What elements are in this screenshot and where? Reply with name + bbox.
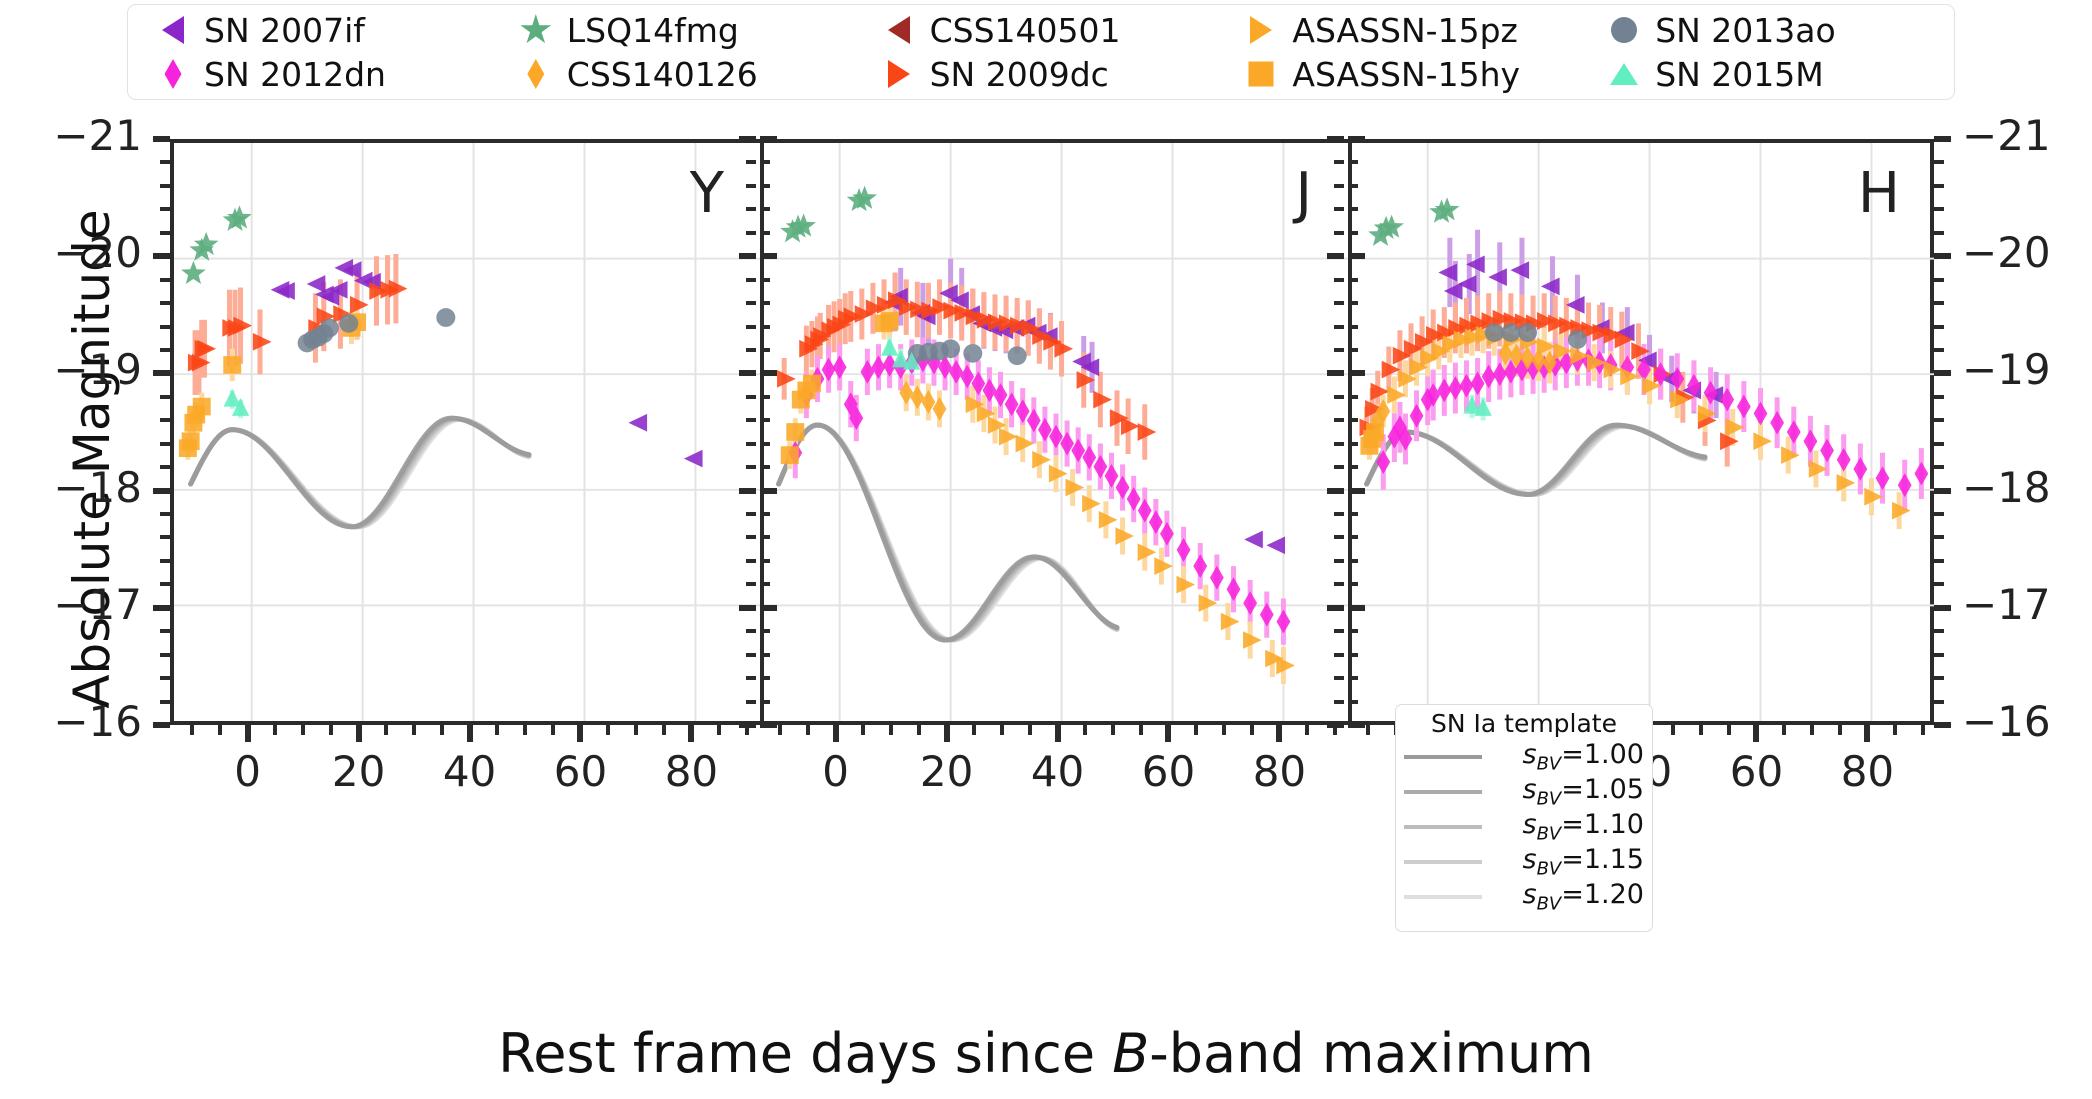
data-point-sn-2012dn [1071,439,1085,463]
divider-minor-tick-right [760,512,770,516]
marker-glyph [1249,62,1274,87]
panel-label-H: H [1858,161,1900,226]
data-point-sn-2013ao [339,314,358,333]
divider-minor-tick-left [746,184,756,188]
template-legend-label: sBV=1.05 [1490,774,1644,809]
divider-minor-tick-right [1348,231,1358,235]
x-tick-label-p0-1: 20 [332,747,385,796]
divider-minor-tick-right [1348,512,1358,516]
divider-minor-tick-right [1348,465,1358,469]
data-point-sn-2013ao [941,339,960,358]
x-major-tick [1864,725,1870,742]
x-minor-tick [1366,725,1370,735]
marker-glyph [1611,17,1637,43]
divider-minor-tick-left [746,207,756,211]
template-legend-rows: sBV=1.00sBV=1.05sBV=1.10sBV=1.15sBV=1.20 [1404,739,1644,914]
template-line-swatch [1404,825,1482,829]
divider-minor-tick-right [1348,301,1358,305]
y-major-tick [153,722,170,728]
legend-item-asassn-15hy[interactable]: ASASSN-15hy [1222,52,1585,96]
marker-glyph [527,59,544,89]
divider-major-tick-left [1327,370,1344,376]
data-point-sn-2013ao [1518,323,1537,342]
y-tick-label-right-0: −21 [1962,111,2051,160]
y-minor-tick [160,278,170,282]
divider-major-tick-right [760,253,777,259]
y-minor-tick [160,653,170,657]
data-point-asassn-15hy [781,446,799,464]
data-point-sn-2012dn [1193,554,1207,578]
data-point-sn-2013ao [963,344,982,363]
divider-major-tick-right [760,370,777,376]
divider-major-tick-right [1348,253,1365,259]
panel-J: J [762,143,1350,721]
y-minor-tick-right [1934,653,1944,657]
divider-major-tick-left [739,253,756,259]
divider-minor-tick-right [1348,629,1358,633]
divider-minor-tick-left [1334,325,1344,329]
legend-item-label: SN 2015M [1655,55,1824,94]
y-minor-tick-right [1934,512,1944,516]
marker-glyph [888,16,910,44]
x-minor-tick [778,725,782,735]
divider-minor-tick-right [760,559,770,563]
divider-minor-tick-right [760,629,770,633]
y-major-tick-right [1934,370,1951,376]
y-major-tick-right [1934,253,1951,259]
divider-major-tick-left [739,722,756,728]
y-minor-tick [160,207,170,211]
legend-item-label: SN 2013ao [1655,11,1836,50]
x-major-tick [577,725,583,742]
template-legend-item-2[interactable]: sBV=1.10 [1404,809,1644,844]
divider-minor-tick-left [1334,653,1344,657]
x-minor-tick [440,725,444,735]
y-tick-label-2: −19 [53,345,142,394]
divider-minor-tick-right [760,160,770,164]
x-tick-label-p2-3: 60 [1730,747,1783,796]
divider-major-tick-left [1327,605,1344,611]
y-major-tick-right [1934,605,1951,611]
y-minor-tick [160,582,170,586]
divider-minor-tick-right [760,231,770,235]
divider-major-tick-right [1348,370,1365,376]
y-major-tick-right [1934,722,1951,728]
template-legend-title: SN Ia template [1404,709,1644,738]
data-point-sn-2012dn [1210,566,1224,590]
template-legend-label: sBV=1.15 [1490,844,1644,879]
x-major-tick [1055,725,1061,742]
x-minor-tick [806,725,810,735]
x-minor-tick [972,725,976,735]
divider-minor-tick-right [760,348,770,352]
x-minor-tick [634,725,638,735]
legend-item-sn-2009dc[interactable]: SN 2009dc [860,52,1223,96]
square-icon [1244,57,1278,91]
divider-minor-tick-right [760,653,770,657]
data-point-sn-2012dn [1227,577,1241,601]
divider-minor-tick-right [760,535,770,539]
y-minor-tick-right [1934,207,1944,211]
divider-minor-tick-right [1348,442,1358,446]
panel-J-canvas [762,143,1350,721]
y-tick-label-3: −18 [53,463,142,512]
y-tick-label-4: −17 [53,580,142,629]
legend-item-asassn-15pz[interactable]: ASASSN-15pz [1222,8,1585,52]
data-point-sn-2012dn [1460,374,1474,398]
x-minor-tick [301,725,305,735]
triangle-right-icon [882,57,916,91]
divider-minor-tick-right [760,442,770,446]
x-major-tick [1165,725,1171,742]
data-point-asassn-15hy [223,356,241,374]
panel-H-canvas [1350,143,1938,721]
x-minor-tick [1699,725,1703,735]
data-point-sn-2015m [881,338,898,356]
legend-item-sn-2007if[interactable]: SN 2007if [134,8,497,52]
x-minor-tick [1111,725,1115,735]
divider-minor-tick-right [760,207,770,211]
data-point-sn-2012dn [1804,429,1818,453]
marker-glyph [1250,16,1272,44]
divider-major-tick-left [739,370,756,376]
y-minor-tick-right [1934,418,1944,422]
y-minor-tick-right [1934,442,1944,446]
x-minor-tick [1727,725,1731,735]
divider-minor-tick-right [1348,160,1358,164]
y-minor-tick-right [1934,301,1944,305]
y-tick-label-right-1: −20 [1962,228,2051,277]
data-point-sn-2012dn [1376,450,1390,474]
divider-minor-tick-left [1334,700,1344,704]
y-minor-tick [160,231,170,235]
divider-minor-tick-right [760,301,770,305]
triangle-up-icon [1607,57,1641,91]
panel-Y-canvas [174,143,762,721]
divider-major-tick-right [760,488,777,494]
y-tick-label-right-3: −18 [1962,463,2051,512]
y-major-tick [153,488,170,494]
data-point-lsq14fmg [181,261,206,284]
data-point-sn-2012dn [1482,365,1496,389]
data-point-sn-2012dn [1853,457,1867,481]
panel-label-J: J [1295,161,1312,226]
x-minor-tick [1194,725,1198,735]
marker-glyph [520,14,552,46]
divider-minor-tick-left [1334,160,1344,164]
data-point-asassn-15hy [193,398,211,416]
x-major-tick [245,725,251,742]
panel-divider-1 [760,143,764,721]
data-point-sn-2012dn [872,355,886,379]
divider-minor-tick-left [1334,512,1344,516]
y-tick-label-0: −21 [53,111,142,160]
x-minor-tick [1083,725,1087,735]
y-major-tick-right [1934,136,1951,142]
x-minor-tick [1028,725,1032,735]
legend-item-sn-2012dn[interactable]: SN 2012dn [134,52,497,96]
data-point-sn-2013ao [320,319,339,338]
divider-minor-tick-right [760,325,770,329]
x-minor-tick [1921,725,1925,735]
data-point-sn-2012dn [833,355,847,379]
divider-minor-tick-left [1334,231,1344,235]
x-minor-tick [273,725,277,735]
template-line-swatch [1404,895,1482,899]
x-major-tick [944,725,950,742]
divider-minor-tick-left [1334,582,1344,586]
divider-minor-tick-right [760,465,770,469]
data-point-asassn-15hy [182,432,200,450]
y-minor-tick-right [1934,348,1944,352]
divider-minor-tick-right [760,395,770,399]
x-major-tick [467,725,473,742]
divider-minor-tick-left [746,676,756,680]
x-minor-tick [218,725,222,735]
x-minor-tick [1000,725,1004,735]
panel-H: H [1350,143,1938,721]
legend-item-label: SN 2009dc [930,55,1109,94]
divider-minor-tick-left [1334,278,1344,282]
divider-minor-tick-left [746,348,756,352]
x-minor-tick [1671,725,1675,735]
y-minor-tick-right [1934,231,1944,235]
divider-minor-tick-left [746,700,756,704]
y-tick-label-right-5: −16 [1962,697,2051,746]
template-legend-item-4[interactable]: sBV=1.20 [1404,879,1644,914]
star-icon [519,13,553,47]
y-major-tick [153,136,170,142]
divider-major-tick-right [1348,136,1365,142]
data-point-sn-2012dn [1770,411,1784,435]
series-legend: SN 2007ifLSQ14fmgCSS140501ASASSN-15pzSN … [127,4,1955,100]
legend-item-sn-2013ao[interactable]: SN 2013ao [1585,8,1948,52]
marker-glyph [1610,63,1638,85]
data-point-asassn-15hy [803,375,821,393]
legend-grid: SN 2007ifLSQ14fmgCSS140501ASASSN-15pzSN … [128,5,1954,96]
x-tick-label-p1-1: 20 [920,747,973,796]
panel-Y: Y [174,143,762,721]
template-legend-item-1[interactable]: sBV=1.05 [1404,774,1644,809]
divider-minor-tick-right [1348,207,1358,211]
y-minor-tick [160,676,170,680]
data-point-asassn-15hy [786,423,804,441]
y-minor-tick [160,442,170,446]
template-line-swatch [1404,790,1482,794]
data-point-sn-2012dn [1243,591,1257,615]
data-point-sn-2012dn [1410,404,1424,428]
legend-item-css140126[interactable]: CSS140126 [497,52,860,96]
data-point-sn-2012dn [860,360,874,384]
x-tick-label-p0-4: 80 [665,747,718,796]
diamond-icon [519,57,553,91]
divider-minor-tick-left [746,582,756,586]
x-minor-tick [329,725,333,735]
template-legend-item-3[interactable]: sBV=1.15 [1404,844,1644,879]
divider-minor-tick-left [1334,676,1344,680]
divider-minor-tick-right [1348,325,1358,329]
y-minor-tick-right [1934,559,1944,563]
data-point-asassn-15hy [881,312,899,330]
x-minor-tick [1139,725,1143,735]
data-point-sn-2012dn [1177,538,1191,562]
x-major-tick [833,725,839,742]
y-minor-tick-right [1934,629,1944,633]
divider-minor-tick-left [746,231,756,235]
template-legend-label: sBV=1.20 [1490,879,1644,914]
y-minor-tick [160,160,170,164]
divider-major-tick-right [1348,488,1365,494]
x-minor-tick [495,725,499,735]
divider-minor-tick-right [1348,348,1358,352]
divider-minor-tick-left [1334,465,1344,469]
y-minor-tick-right [1934,184,1944,188]
divider-major-tick-right [1348,605,1365,611]
x-tick-label-p1-0: 0 [822,747,849,796]
divider-minor-tick-right [1348,535,1358,539]
x-minor-tick [1782,725,1786,735]
divider-minor-tick-left [746,559,756,563]
data-point-sn-2012dn [1437,378,1451,402]
y-minor-tick [160,418,170,422]
y-minor-tick-right [1934,465,1944,469]
divider-minor-tick-right [760,582,770,586]
data-point-sn-2012dn [1820,439,1834,463]
divider-minor-tick-left [1334,535,1344,539]
y-minor-tick [160,700,170,704]
legend-item-label: SN 2007if [204,11,365,50]
legend-item-sn-2015m[interactable]: SN 2015M [1585,52,1948,96]
legend-item-label: LSQ14fmg [567,11,739,50]
x-minor-tick [384,725,388,735]
divider-major-tick-left [1327,722,1344,728]
data-point-sn-2007if [684,450,703,468]
x-tick-label-p1-3: 60 [1142,747,1195,796]
y-major-tick-right [1934,488,1951,494]
divider-minor-tick-right [1348,559,1358,563]
divider-minor-tick-left [746,325,756,329]
legend-item-lsq14fmg[interactable]: LSQ14fmg [497,8,860,52]
x-minor-tick [1222,725,1226,735]
x-major-tick [688,725,694,742]
y-minor-tick [160,325,170,329]
x-minor-tick [1250,725,1254,735]
data-point-sn-2012dn [1448,376,1462,400]
y-tick-label-1: −20 [53,228,142,277]
y-minor-tick-right [1934,700,1944,704]
divider-minor-tick-right [1348,582,1358,586]
circle-icon [1607,13,1641,47]
x-minor-tick [412,725,416,735]
y-minor-tick [160,348,170,352]
template-legend-label: sBV=1.10 [1490,809,1644,844]
divider-minor-tick-right [1348,278,1358,282]
x-minor-tick [1838,725,1842,735]
y-major-tick [153,370,170,376]
x-minor-tick [606,725,610,735]
x-tick-label-p1-2: 40 [1031,747,1084,796]
y-minor-tick [160,395,170,399]
triangle-left-icon [882,13,916,47]
divider-major-tick-left [739,136,756,142]
y-minor-tick-right [1934,278,1944,282]
divider-minor-tick-left [746,512,756,516]
legend-item-css140501[interactable]: CSS140501 [860,8,1223,52]
data-point-sn-2013ao [1501,323,1520,342]
y-minor-tick [160,512,170,516]
x-minor-tick [1305,725,1309,735]
y-minor-tick-right [1934,582,1944,586]
legend-item-label: ASASSN-15hy [1292,55,1520,94]
template-line-swatch [1404,860,1482,864]
y-major-tick [153,605,170,611]
divider-major-tick-left [1327,253,1344,259]
data-point-sn-2013ao [436,308,455,327]
divider-minor-tick-right [1348,184,1358,188]
y-minor-tick [160,465,170,469]
x-minor-tick [717,725,721,735]
y-minor-tick-right [1934,676,1944,680]
data-point-sn-2012dn [1737,395,1751,419]
data-point-sn-2012dn [1914,462,1928,486]
data-point-css140126 [922,390,936,414]
x-axis-title: Rest frame days since B-band maximum [0,1022,2092,1085]
data-point-sn-2012dn [1754,402,1768,426]
x-major-tick [356,725,362,742]
data-point-sn-2012dn [1116,476,1130,500]
divider-minor-tick-left [1334,418,1344,422]
divider-minor-tick-right [760,278,770,282]
divider-minor-tick-right [1348,653,1358,657]
x-tick-label-p0-2: 40 [443,747,496,796]
divider-minor-tick-left [1334,629,1344,633]
x-minor-tick [1810,725,1814,735]
divider-minor-tick-left [746,395,756,399]
divider-minor-tick-left [746,442,756,446]
marker-glyph [165,59,182,89]
divider-minor-tick-right [760,184,770,188]
divider-minor-tick-left [1334,395,1344,399]
panel-label-Y: Y [690,161,724,226]
legend-item-label: ASASSN-15pz [1292,11,1517,50]
divider-minor-tick-left [746,465,756,469]
x-minor-tick [1893,725,1897,735]
divider-minor-tick-left [1334,559,1344,563]
divider-minor-tick-left [746,301,756,305]
divider-minor-tick-right [1348,418,1358,422]
x-tick-label-p1-4: 80 [1253,747,1306,796]
divider-major-tick-right [1348,722,1365,728]
data-point-sn-2007if [1266,536,1285,554]
divider-minor-tick-left [1334,301,1344,305]
x-axis-title-suffix: -band maximum [1149,1022,1594,1085]
template-legend-item-0[interactable]: sBV=1.00 [1404,739,1644,774]
data-point-sn-2012dn [1876,466,1890,490]
x-axis-title-band: B [1112,1022,1149,1085]
x-tick-label-p0-3: 60 [554,747,607,796]
divider-minor-tick-left [746,160,756,164]
template-line-swatch [1404,755,1482,759]
marker-glyph [888,60,910,88]
data-point-sn-2012dn [1149,510,1163,534]
triangle-right-icon [1244,13,1278,47]
y-minor-tick-right [1934,325,1944,329]
x-axis-title-prefix: Rest frame days since [498,1022,1112,1085]
y-minor-tick [160,629,170,633]
legend-item-label: CSS140126 [567,55,758,94]
data-point-css140126 [933,397,947,421]
x-minor-tick [551,725,555,735]
